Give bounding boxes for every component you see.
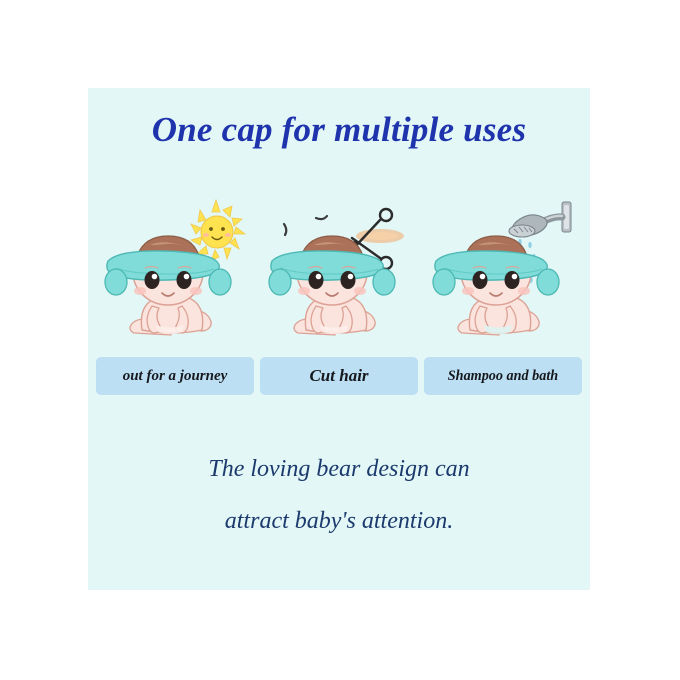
hair-clipping-icon [284, 216, 327, 235]
scene-shampoo-art [424, 188, 582, 348]
caption-chip-journey: out for a journey [96, 357, 254, 395]
scene-cut-hair-art [260, 188, 418, 348]
shower-head-icon [509, 202, 571, 237]
baby-with-shower-cap-icon [105, 236, 231, 335]
tagline: The loving bear design can attract baby'… [88, 443, 590, 547]
tagline-line-1: The loving bear design can [88, 443, 590, 495]
page-title: One cap for multiple uses [88, 110, 590, 150]
caption-row: out for a journey Cut hair Shampoo and b… [88, 357, 590, 395]
caption-chip-shampoo: Shampoo and bath [424, 357, 582, 395]
illustration-canvas: One cap for multiple uses [0, 0, 680, 680]
motion-blur-icon [356, 229, 404, 243]
sun-icon [191, 200, 245, 261]
caption-chip-cut-hair: Cut hair [260, 357, 418, 395]
scene-journey-art [96, 188, 254, 348]
tagline-line-2: attract baby's attention. [88, 495, 590, 547]
baby-with-shower-cap-icon [433, 236, 559, 335]
product-feature-panel: One cap for multiple uses [88, 88, 590, 590]
baby-with-shower-cap-icon [269, 236, 395, 335]
